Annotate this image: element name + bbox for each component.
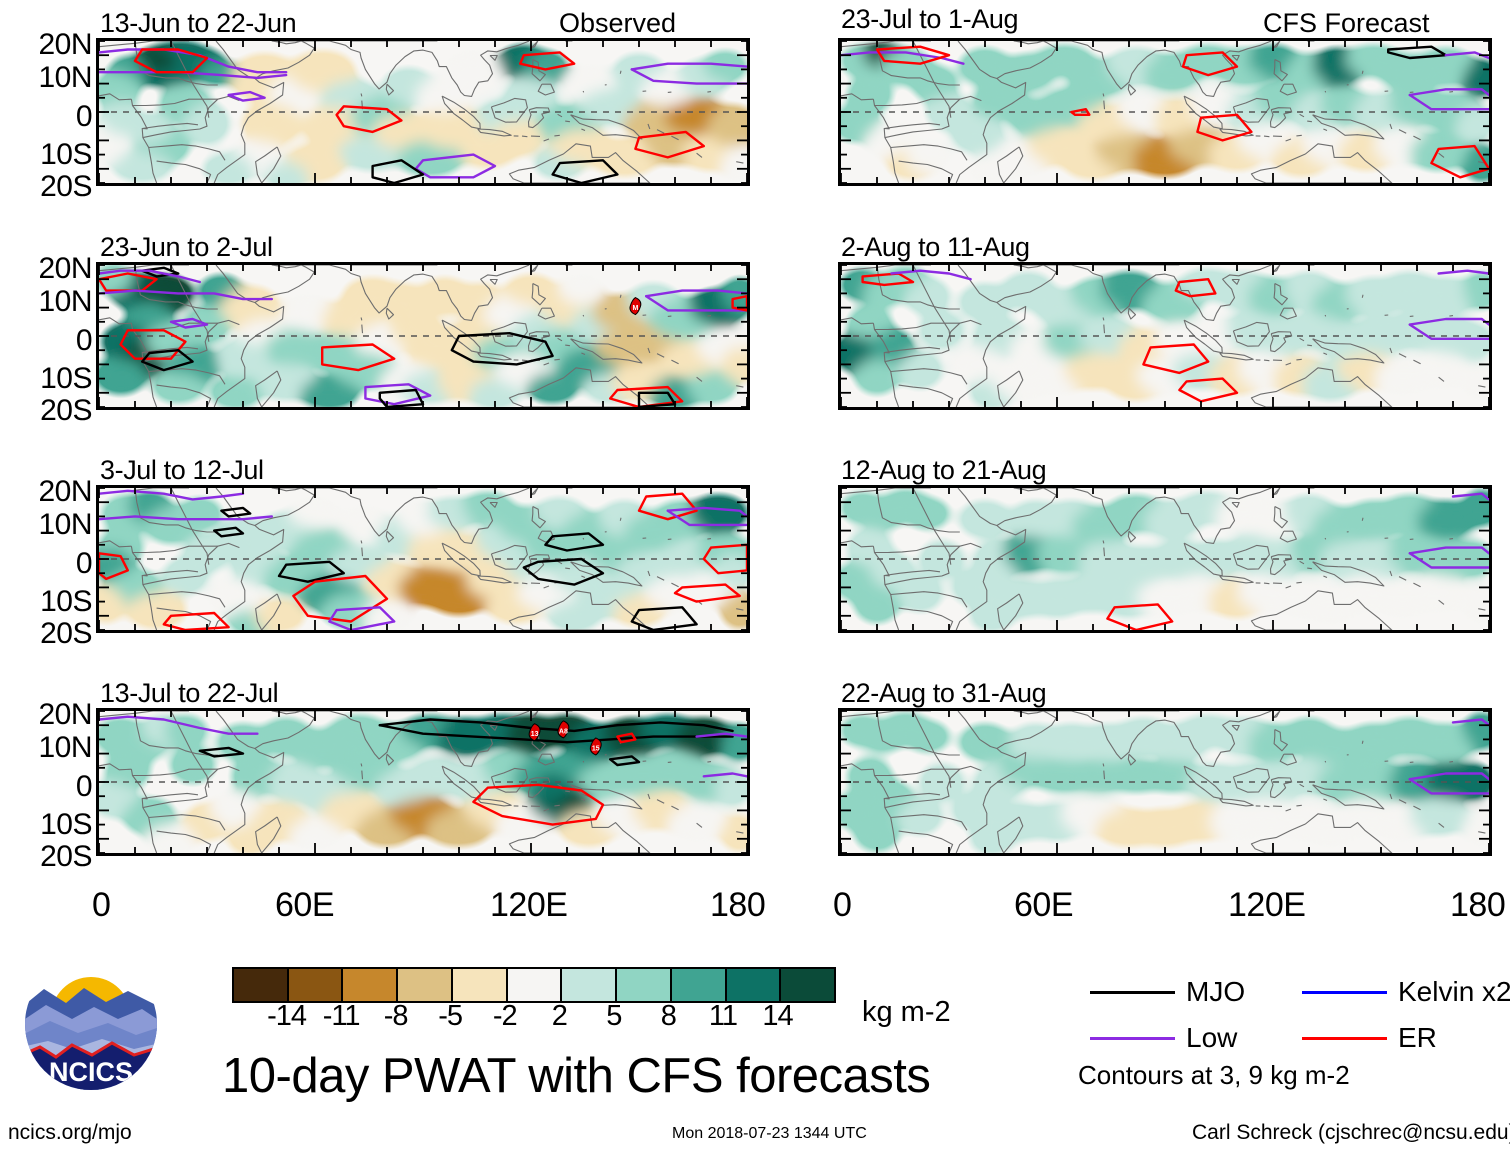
page-title: 10-day PWAT with CFS forecasts — [222, 1052, 930, 1101]
y-tick-20s-row3: 20S — [0, 842, 92, 872]
legend-item-low: Low — [1090, 1024, 1237, 1052]
y-tick-20s-row2: 20S — [0, 619, 92, 649]
colorbar-bin-6 — [560, 969, 615, 1001]
colorbar-bin-8 — [670, 969, 725, 1001]
panel-title-0: 13-Jun to 22-Jun — [100, 10, 296, 37]
y-tick-20n-row0: 20N — [0, 30, 92, 60]
column-header-cfs-forecast: CFS Forecast — [1263, 10, 1430, 37]
panel-title-4: 23-Jul to 1-Aug — [841, 6, 1018, 33]
column-header-observed: Observed — [559, 10, 676, 37]
colorbar-tick-5: 2 — [529, 1002, 589, 1031]
y-tick-0-row0: 0 — [0, 102, 92, 132]
colorbar-tick-2: -8 — [366, 1002, 426, 1031]
map-svg-3: 13A815 — [99, 711, 747, 853]
legend-line-er — [1302, 1037, 1387, 1040]
map-panel-7[interactable] — [838, 708, 1492, 856]
colorbar-tick-9: 14 — [747, 1002, 807, 1031]
colorbar-tick-0: -14 — [257, 1002, 317, 1031]
colorbar-tick-1: -11 — [311, 1002, 371, 1031]
panel-title-1: 23-Jun to 2-Jul — [100, 234, 273, 261]
map-panel-3[interactable]: 13A815 — [96, 708, 750, 856]
map-svg-5 — [841, 265, 1489, 407]
y-tick-10n-row0: 10N — [0, 63, 92, 93]
map-inner-7 — [841, 711, 1489, 853]
y-tick-20n-row3: 20N — [0, 700, 92, 730]
x-tick-0-left: 0 — [92, 888, 110, 922]
ncics-logo-text: NCICS — [49, 1057, 133, 1087]
legend-label-kelvin: Kelvin x2 — [1398, 978, 1510, 1006]
legend-item-er: ER — [1302, 1024, 1437, 1052]
colorbar-units-label: kg m-2 — [862, 998, 951, 1027]
y-tick-10n-row2: 10N — [0, 510, 92, 540]
ncics-logo-svg: NCICS — [22, 955, 160, 1093]
svg-text:M: M — [632, 305, 638, 312]
legend-label-mjo: MJO — [1186, 978, 1245, 1006]
y-tick-10s-row3: 10S — [0, 810, 92, 840]
map-inner-0 — [99, 41, 747, 183]
legend-line-low — [1090, 1037, 1175, 1040]
panel-title-2: 3-Jul to 12-Jul — [100, 457, 264, 484]
contour-note: Contours at 3, 9 kg m-2 — [1078, 1062, 1350, 1088]
map-svg-7 — [841, 711, 1489, 853]
colorbar-bin-1 — [287, 969, 342, 1001]
footer-center: Mon 2018-07-23 1344 UTC — [672, 1126, 867, 1142]
map-panel-1[interactable]: M — [96, 262, 750, 410]
colorbar-tick-4: -2 — [475, 1002, 535, 1031]
legend-line-mjo — [1090, 991, 1175, 994]
map-svg-0 — [99, 41, 747, 183]
y-tick-20s-row1: 20S — [0, 396, 92, 426]
y-tick-10s-row2: 10S — [0, 587, 92, 617]
svg-text:13: 13 — [531, 731, 539, 738]
colorbar-bin-3 — [396, 969, 451, 1001]
y-tick-20n-row1: 20N — [0, 254, 92, 284]
legend-item-kelvin: Kelvin x2 — [1302, 978, 1510, 1006]
legend-label-low: Low — [1186, 1024, 1237, 1052]
ncics-logo: NCICS — [22, 955, 160, 1093]
colorbar-bin-7 — [615, 969, 670, 1001]
y-tick-0-row2: 0 — [0, 549, 92, 579]
y-tick-10s-row0: 10S — [0, 140, 92, 170]
y-tick-10n-row3: 10N — [0, 733, 92, 763]
x-tick-0-right: 0 — [833, 888, 851, 922]
x-tick-180-left: 180 — [710, 888, 765, 922]
legend-line-kelvin — [1302, 991, 1387, 994]
panel-title-5: 2-Aug to 11-Aug — [841, 234, 1030, 261]
x-tick-180-right: 180 — [1450, 888, 1505, 922]
map-inner-5 — [841, 265, 1489, 407]
colorbar-bin-9 — [725, 969, 780, 1001]
colorbar-bin-0 — [234, 969, 287, 1001]
map-panel-6[interactable] — [838, 485, 1492, 633]
map-panel-4[interactable] — [838, 38, 1492, 186]
x-tick-60e-right: 60E — [1014, 888, 1073, 922]
x-tick-120e-right: 120E — [1228, 888, 1305, 922]
y-tick-10n-row1: 10N — [0, 287, 92, 317]
map-inner-4 — [841, 41, 1489, 183]
map-inner-3: 13A815 — [99, 711, 747, 853]
map-panel-2[interactable] — [96, 485, 750, 633]
y-tick-10s-row1: 10S — [0, 364, 92, 394]
y-tick-0-row1: 0 — [0, 326, 92, 356]
colorbar-tick-3: -5 — [420, 1002, 480, 1031]
svg-text:A8: A8 — [559, 728, 568, 735]
x-tick-120e-left: 120E — [490, 888, 567, 922]
footer-right: Carl Schreck (cjschrec@ncsu.edu) — [1192, 1122, 1510, 1143]
y-tick-20n-row2: 20N — [0, 477, 92, 507]
legend-label-er: ER — [1398, 1024, 1437, 1052]
panel-title-7: 22-Aug to 31-Aug — [841, 680, 1046, 707]
footer-left[interactable]: ncics.org/mjo — [8, 1122, 132, 1143]
colorbar-bin-5 — [506, 969, 561, 1001]
y-tick-0-row3: 0 — [0, 772, 92, 802]
map-svg-6 — [841, 488, 1489, 630]
panel-title-3: 13-Jul to 22-Jul — [100, 680, 278, 707]
legend-item-mjo: MJO — [1090, 978, 1245, 1006]
colorbar-bin-4 — [451, 969, 506, 1001]
colorbar-tick-7: 8 — [638, 1002, 698, 1031]
svg-text:15: 15 — [592, 745, 600, 752]
map-inner-6 — [841, 488, 1489, 630]
map-svg-2 — [99, 488, 747, 630]
colorbar-bin-2 — [341, 969, 396, 1001]
colorbar-tick-8: 11 — [693, 1002, 753, 1031]
panel-title-6: 12-Aug to 21-Aug — [841, 457, 1046, 484]
x-tick-60e-left: 60E — [275, 888, 334, 922]
map-inner-2 — [99, 488, 747, 630]
colorbar-bin-10 — [779, 969, 834, 1001]
map-panel-5[interactable] — [838, 262, 1492, 410]
map-svg-4 — [841, 41, 1489, 183]
colorbar-tick-6: 5 — [584, 1002, 644, 1031]
map-panel-0[interactable] — [96, 38, 750, 186]
map-inner-1: M — [99, 265, 747, 407]
y-tick-20s-row0: 20S — [0, 172, 92, 202]
map-svg-1: M — [99, 265, 747, 407]
colorbar — [232, 967, 836, 1003]
